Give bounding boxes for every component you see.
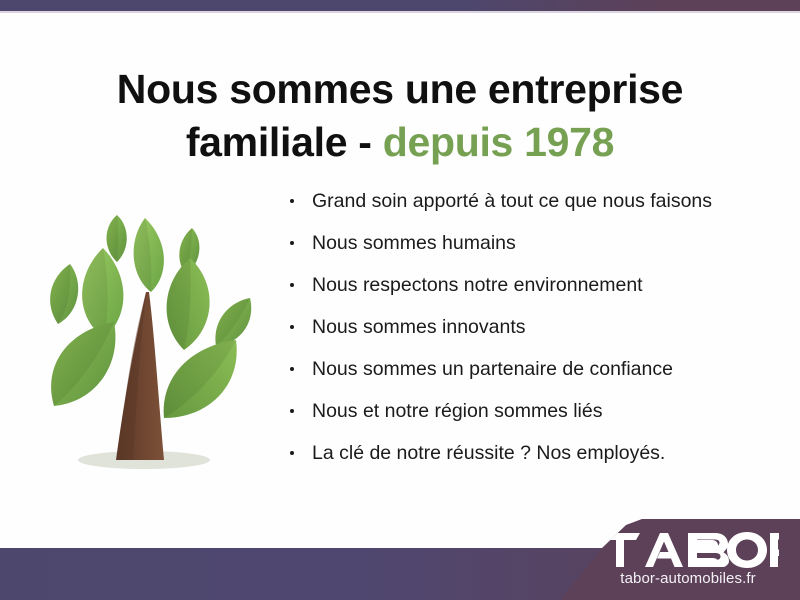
tree-leaf (50, 264, 78, 324)
page-title: Nous sommes une entreprise familiale - d… (0, 63, 800, 168)
list-item: La clé de notre réussite ? Nos employés. (286, 442, 766, 464)
list-item: Nous sommes innovants (286, 316, 766, 338)
tree-leaf (51, 322, 115, 406)
top-accent-hairline (0, 11, 800, 13)
list-item: Grand soin apporté à tout ce que nous fa… (286, 190, 766, 212)
tree-icon (18, 188, 270, 484)
headline-line-2: familiale - depuis 1978 (0, 116, 800, 168)
list-item-label: Nous respectons notre environnement (312, 274, 643, 296)
bullet-dot-icon (290, 325, 294, 329)
headline-plain-text: familiale - (186, 119, 383, 165)
brand-logo[interactable]: tabor-automobiles.fr (590, 532, 786, 586)
tree-leaf (164, 340, 237, 418)
bullet-dot-icon (290, 367, 294, 371)
tree-leaf (107, 215, 127, 262)
bullet-dot-icon (290, 409, 294, 413)
list-item: Nous sommes un partenaire de confiance (286, 358, 766, 380)
list-item: Nous sommes humains (286, 232, 766, 254)
list-item-label: Grand soin apporté à tout ce que nous fa… (312, 190, 712, 212)
top-accent-band (0, 0, 800, 11)
headline-accent-text: depuis 1978 (383, 119, 614, 165)
bullet-dot-icon (290, 241, 294, 245)
list-item-label: Nous sommes un partenaire de confiance (312, 358, 673, 380)
tabor-wordmark-icon (597, 532, 779, 568)
value-bullet-list: Grand soin apporté à tout ce que nous fa… (286, 190, 766, 483)
slide-canvas: Nous sommes une entreprise familiale - d… (0, 0, 800, 600)
tree-leaf (215, 298, 251, 346)
list-item-label: La clé de notre réussite ? Nos employés. (312, 442, 665, 464)
bullet-dot-icon (290, 451, 294, 455)
brand-url-label: tabor-automobiles.fr (590, 571, 786, 586)
list-item: Nous respectons notre environnement (286, 274, 766, 296)
tree-leaf (134, 218, 164, 292)
list-item: Nous et notre région sommes liés (286, 400, 766, 422)
bullet-dot-icon (290, 199, 294, 203)
bullet-dot-icon (290, 283, 294, 287)
tree-leaf (167, 258, 210, 350)
list-item-label: Nous et notre région sommes liés (312, 400, 602, 422)
list-item-label: Nous sommes humains (312, 232, 516, 254)
headline-line-1: Nous sommes une entreprise (0, 63, 800, 115)
list-item-label: Nous sommes innovants (312, 316, 526, 338)
